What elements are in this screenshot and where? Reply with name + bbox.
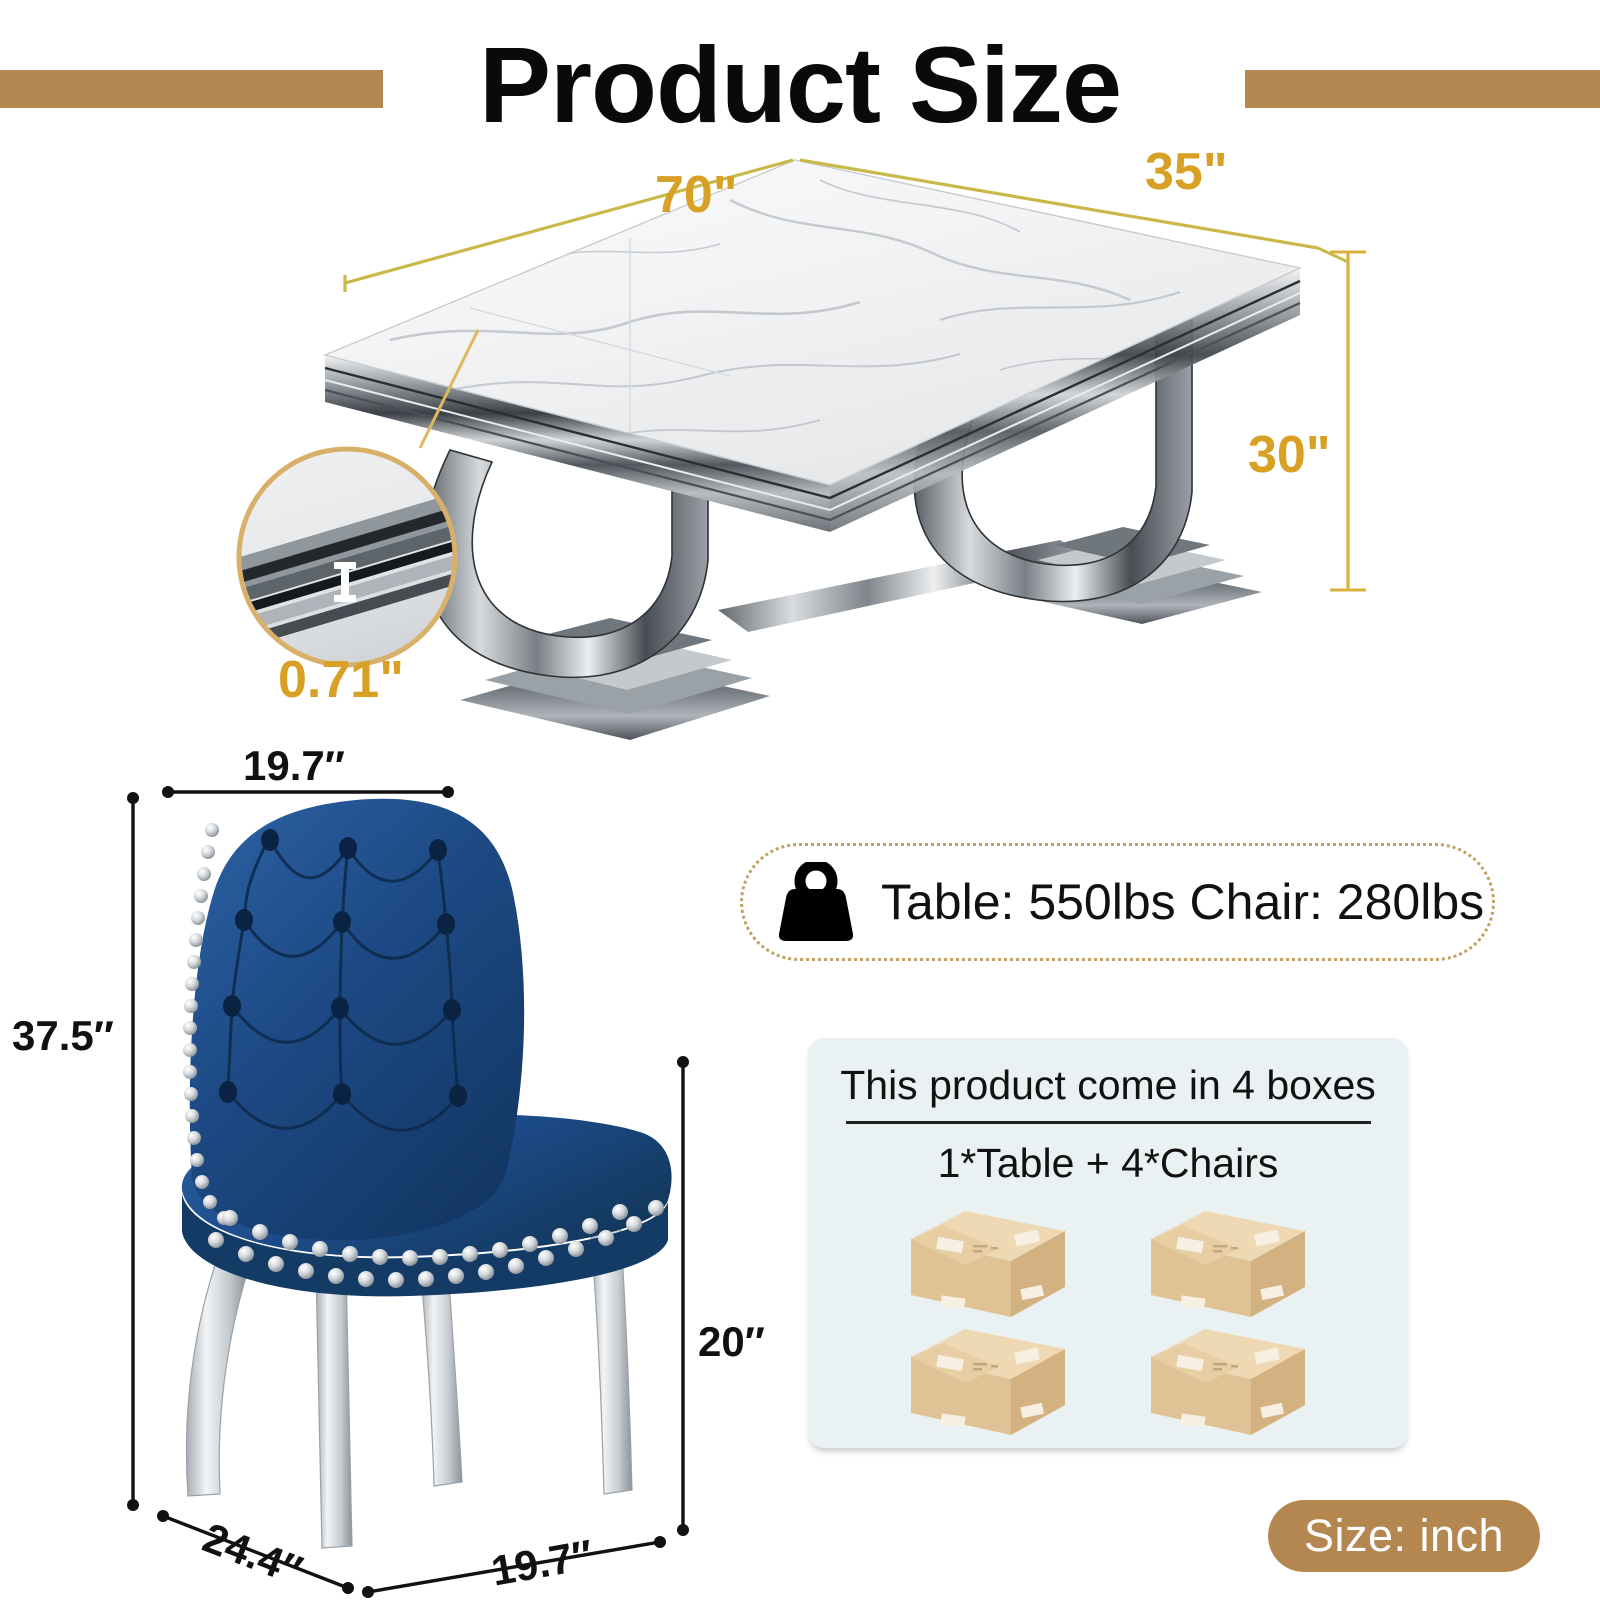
shipping-box-icon: [903, 1323, 1073, 1441]
chair-height-label: 37.5″: [12, 1012, 114, 1060]
table-width-label: 35": [1145, 142, 1228, 202]
page-title: Product Size: [0, 28, 1600, 141]
packaging-headline: This product come in 4 boxes: [808, 1062, 1408, 1109]
weight-capacity-badge: Table: 550lbs Chair: 280lbs: [740, 843, 1495, 961]
shipping-box-icon: [1143, 1205, 1313, 1323]
packaging-contents: 1*Table + 4*Chairs: [808, 1140, 1408, 1187]
shipping-box-icon: [903, 1205, 1073, 1323]
dining-chair-illustration: [120, 770, 720, 1560]
unit-badge: Size: inch: [1268, 1500, 1540, 1572]
table-height-label: 30": [1248, 425, 1331, 485]
weight-icon: [777, 862, 855, 942]
weight-capacity-text: Table: 550lbs Chair: 280lbs: [881, 873, 1484, 931]
chair-seat-height-label: 20″: [698, 1318, 765, 1366]
chair-leg-rear-right: [420, 1264, 462, 1486]
chair-leg-front-left: [316, 1268, 352, 1548]
infographic-canvas: Product Size: [0, 0, 1600, 1600]
chair-backrest: [190, 799, 524, 1240]
table-length-label: 70": [655, 165, 738, 225]
table-thickness-label: 0.71": [278, 650, 404, 710]
chair-leg-rear-left: [186, 1262, 248, 1496]
edge-thickness-detail-bubble: [230, 440, 465, 675]
shipping-box-icon: [1143, 1323, 1313, 1441]
packaging-divider: [846, 1121, 1371, 1124]
packaging-panel: This product come in 4 boxes 1*Table + 4…: [808, 1038, 1408, 1448]
packaging-box-grid: [868, 1205, 1348, 1441]
chair-back-width-label: 19.7″: [243, 742, 345, 790]
